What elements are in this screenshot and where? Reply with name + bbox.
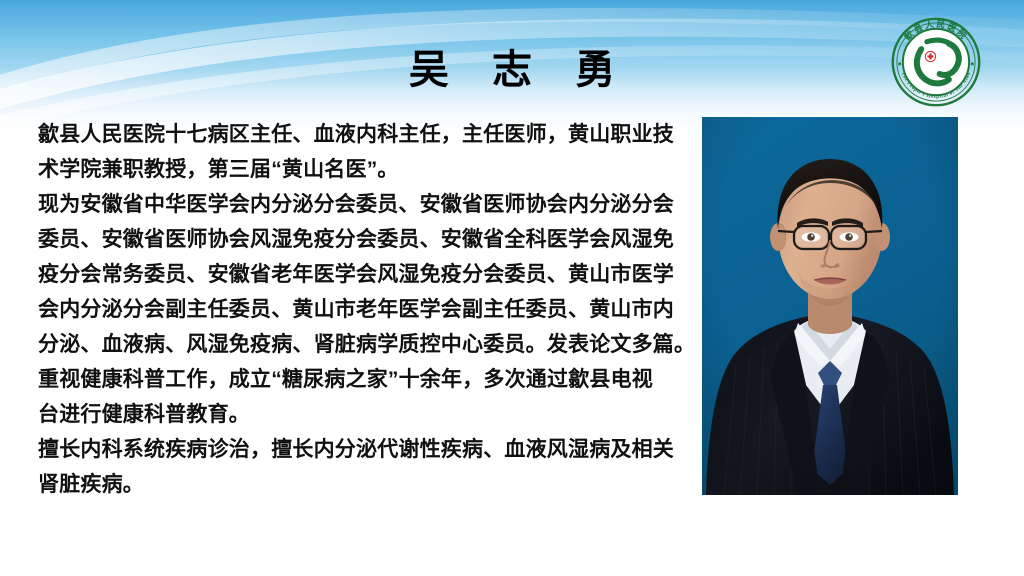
- bio-line: 台进行健康科普教育。: [38, 397, 698, 432]
- bio-line: 疫分会常务委员、安徽省老年医学会风湿免疫分会委员、黄山市医学: [38, 257, 698, 292]
- bio-line: 会内分泌分会副主任委员、黄山市老年医学会副主任委员、黄山市内: [38, 292, 698, 327]
- bio-line: 肾脏疾病。: [38, 467, 698, 502]
- bio-line: 委员、安徽省医师协会风湿免疫分会委员、安徽省全科医学会风湿免: [38, 222, 698, 257]
- portrait-photo-wu-zhiyong: [702, 117, 958, 495]
- bio-line: 歙县人民医院十七病区主任、血液内科主任，主任医师，黄山职业技: [38, 117, 698, 152]
- bio-line: 重视健康科普工作，成立“糖尿病之家”十余年，多次通过歙县电视: [38, 362, 698, 397]
- slide-canvas: 吴 志 勇 歙县人民医院 The People's Hospital of Sh…: [0, 0, 1024, 576]
- bio-line: 术学院兼职教授，第三届“黄山名医”。: [38, 152, 698, 187]
- page-title: 吴 志 勇: [0, 48, 1024, 92]
- biography-text: 歙县人民医院十七病区主任、血液内科主任，主任医师，黄山职业技 术学院兼职教授，第…: [38, 117, 698, 502]
- bio-line: 擅长内科系统疾病诊治，擅长内分泌代谢性疾病、血液风湿病及相关: [38, 432, 698, 467]
- svg-text:1946: 1946: [931, 83, 941, 88]
- hospital-seal-logo: 歙县人民医院 The People's Hospital of She Xian…: [890, 16, 982, 108]
- bio-line: 现为安徽省中华医学会内分泌分会委员、安徽省医师协会内分泌分会: [38, 187, 698, 222]
- bio-line: 分泌、血液病、风湿免疫病、肾脏病学质控中心委员。发表论文多篇。: [38, 327, 698, 362]
